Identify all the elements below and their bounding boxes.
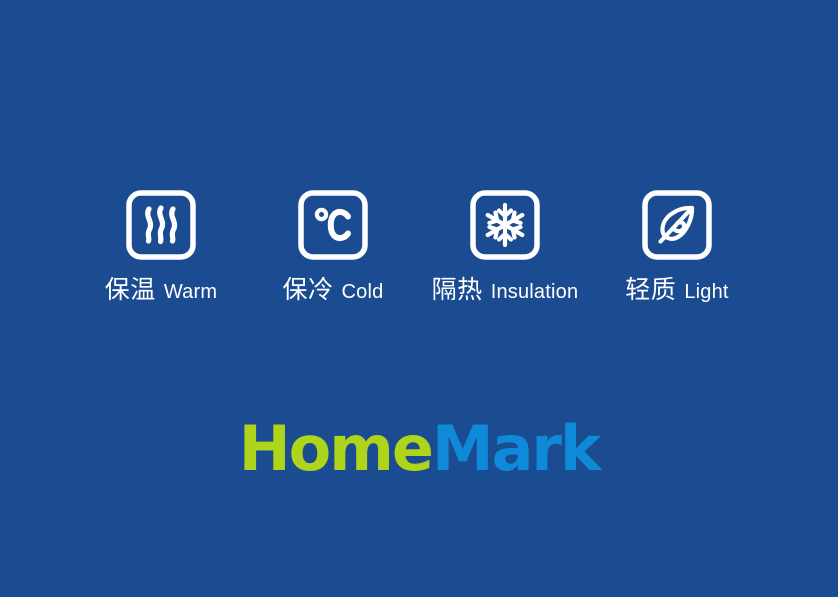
feature-item-cold[interactable]: 保冷 Cold — [247, 188, 419, 303]
feature-label-light: 轻质 Light — [625, 278, 728, 303]
feature-label-warm: 保温 Warm — [105, 278, 217, 303]
brand-logo: HomeMark — [0, 418, 838, 480]
feature-label-cn: 轻质 — [625, 278, 676, 303]
feather-leaf-icon — [640, 188, 714, 262]
feature-label-insulation: 隔热 Insulation — [432, 278, 579, 303]
feature-item-insulation[interactable]: 隔热 Insulation — [419, 188, 591, 303]
celsius-degree-icon — [296, 188, 370, 262]
feature-list: 保温 Warm 保冷 Cold — [0, 188, 838, 303]
feature-label-en: Insulation — [491, 282, 579, 302]
feature-label-en: Warm — [164, 282, 217, 302]
feature-label-cold: 保冷 Cold — [283, 278, 384, 303]
feature-item-light[interactable]: 轻质 Light — [591, 188, 763, 303]
feature-label-cn: 保温 — [105, 278, 156, 303]
feature-label-cn: 保冷 — [283, 278, 334, 303]
feature-label-en: Light — [684, 282, 728, 302]
snowflake-icon — [468, 188, 542, 262]
brand-logo-mark: Mark — [432, 412, 599, 485]
feature-label-en: Cold — [342, 282, 384, 302]
brand-logo-home: Home — [239, 412, 432, 485]
feature-label-cn: 隔热 — [432, 278, 483, 303]
heat-waves-icon — [124, 188, 198, 262]
poster-canvas: 保温 Warm 保冷 Cold — [0, 0, 838, 597]
feature-item-warm[interactable]: 保温 Warm — [75, 188, 247, 303]
